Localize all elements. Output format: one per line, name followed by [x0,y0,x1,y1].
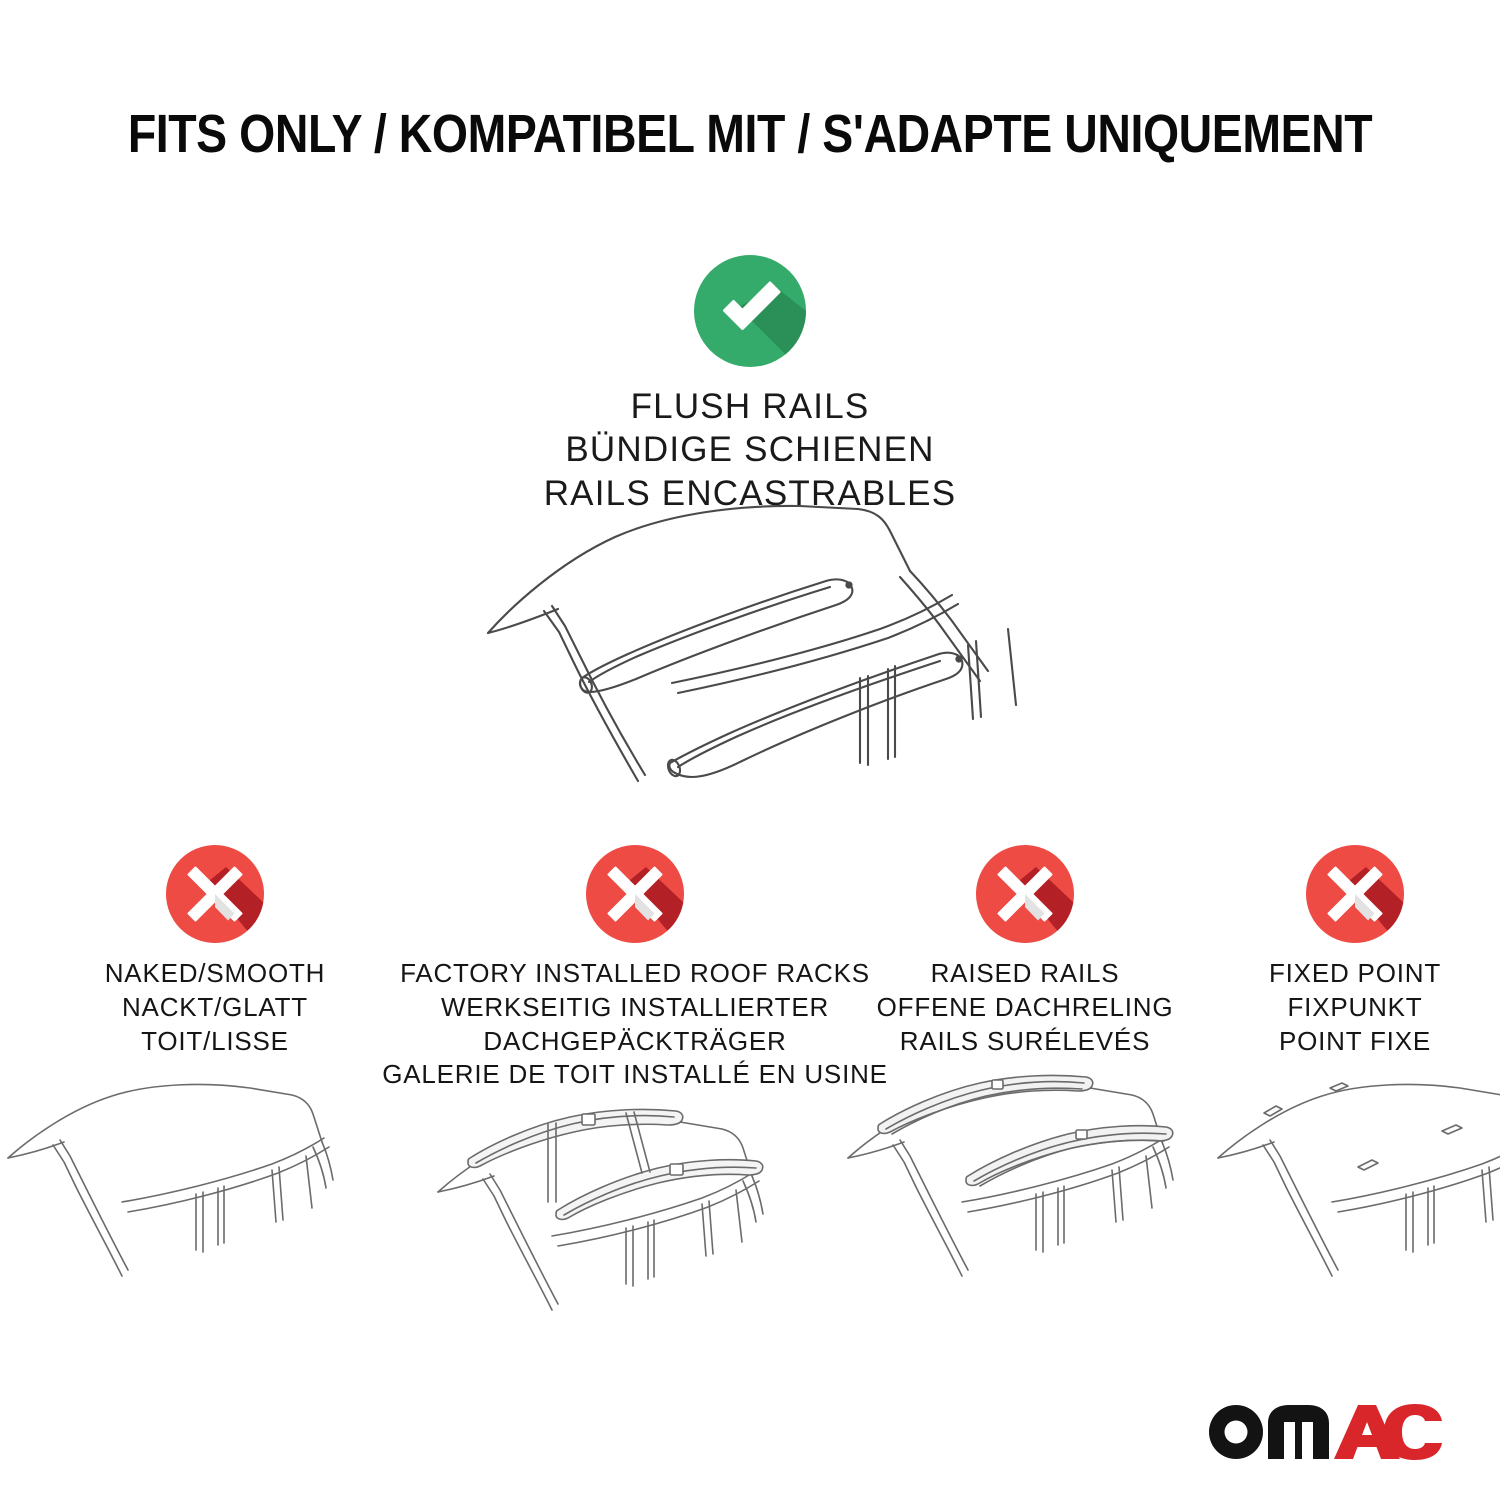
incompatible-label-fixed-point: FIXED POINT FIXPUNKT POINT FIXE [1269,957,1441,1058]
compatible-label-line-2: BÜNDIGE SCHIENEN [0,428,1500,471]
x-circle-icon [1306,845,1404,943]
label-line-2: NACKT/GLATT [105,991,326,1025]
incompatible-item-fixed-point: FIXED POINT FIXPUNKT POINT FIXE [1210,845,1500,1302]
incompatible-section: NAKED/SMOOTH NACKT/GLATT TOIT/LISSE [0,845,1500,1336]
incompatible-item-factory-racks: FACTORY INSTALLED ROOF RACKS WERKSEITIG … [430,845,840,1336]
label-line-1: RAISED RAILS [877,957,1174,991]
label-line-1: FIXED POINT [1269,957,1441,991]
incompatible-item-naked-smooth: NAKED/SMOOTH NACKT/GLATT TOIT/LISSE [0,845,430,1302]
incompatible-item-raised-rails: RAISED RAILS OFFENE DACHRELING RAILS SUR… [840,845,1210,1302]
label-line-4: GALERIE DE TOIT INSTALLÉ EN USINE [382,1058,888,1092]
car-roof-flush-rails-illustration [440,493,1060,793]
car-roof-factory-racks-illustration [430,1106,840,1336]
x-circle-icon [166,845,264,943]
label-line-2: OFFENE DACHRELING [877,991,1174,1025]
incompatible-label-factory-racks: FACTORY INSTALLED ROOF RACKS WERKSEITIG … [382,957,888,1092]
car-roof-bare-illustration [0,1072,430,1302]
compatible-section: FLUSH RAILS BÜNDIGE SCHIENEN RAILS ENCAS… [0,255,1500,515]
incompatible-label-naked-smooth: NAKED/SMOOTH NACKT/GLATT TOIT/LISSE [105,957,326,1058]
compatibility-infographic: FITS ONLY / KOMPATIBEL MIT / S'ADAPTE UN… [0,0,1500,1500]
omac-logo [1206,1396,1442,1462]
x-circle-icon [586,845,684,943]
label-line-3: POINT FIXE [1269,1025,1441,1059]
check-circle-icon [694,255,806,367]
label-line-3: RAILS SURÉLEVÉS [877,1025,1174,1059]
compatible-label-line-1: FLUSH RAILS [0,385,1500,428]
label-line-1: NAKED/SMOOTH [105,957,326,991]
page-title: FITS ONLY / KOMPATIBEL MIT / S'ADAPTE UN… [105,103,1395,165]
car-roof-fixed-point-illustration [1210,1072,1500,1302]
label-line-2: WERKSEITIG INSTALLIERTER [382,991,888,1025]
label-line-3: DACHGEPÄCKTRÄGER [382,1025,888,1059]
label-line-2: FIXPUNKT [1269,991,1441,1025]
incompatible-label-raised-rails: RAISED RAILS OFFENE DACHRELING RAILS SUR… [877,957,1174,1058]
label-line-1: FACTORY INSTALLED ROOF RACKS [382,957,888,991]
x-circle-icon [976,845,1074,943]
car-roof-raised-rails-illustration [840,1072,1210,1302]
label-line-3: TOIT/LISSE [105,1025,326,1059]
